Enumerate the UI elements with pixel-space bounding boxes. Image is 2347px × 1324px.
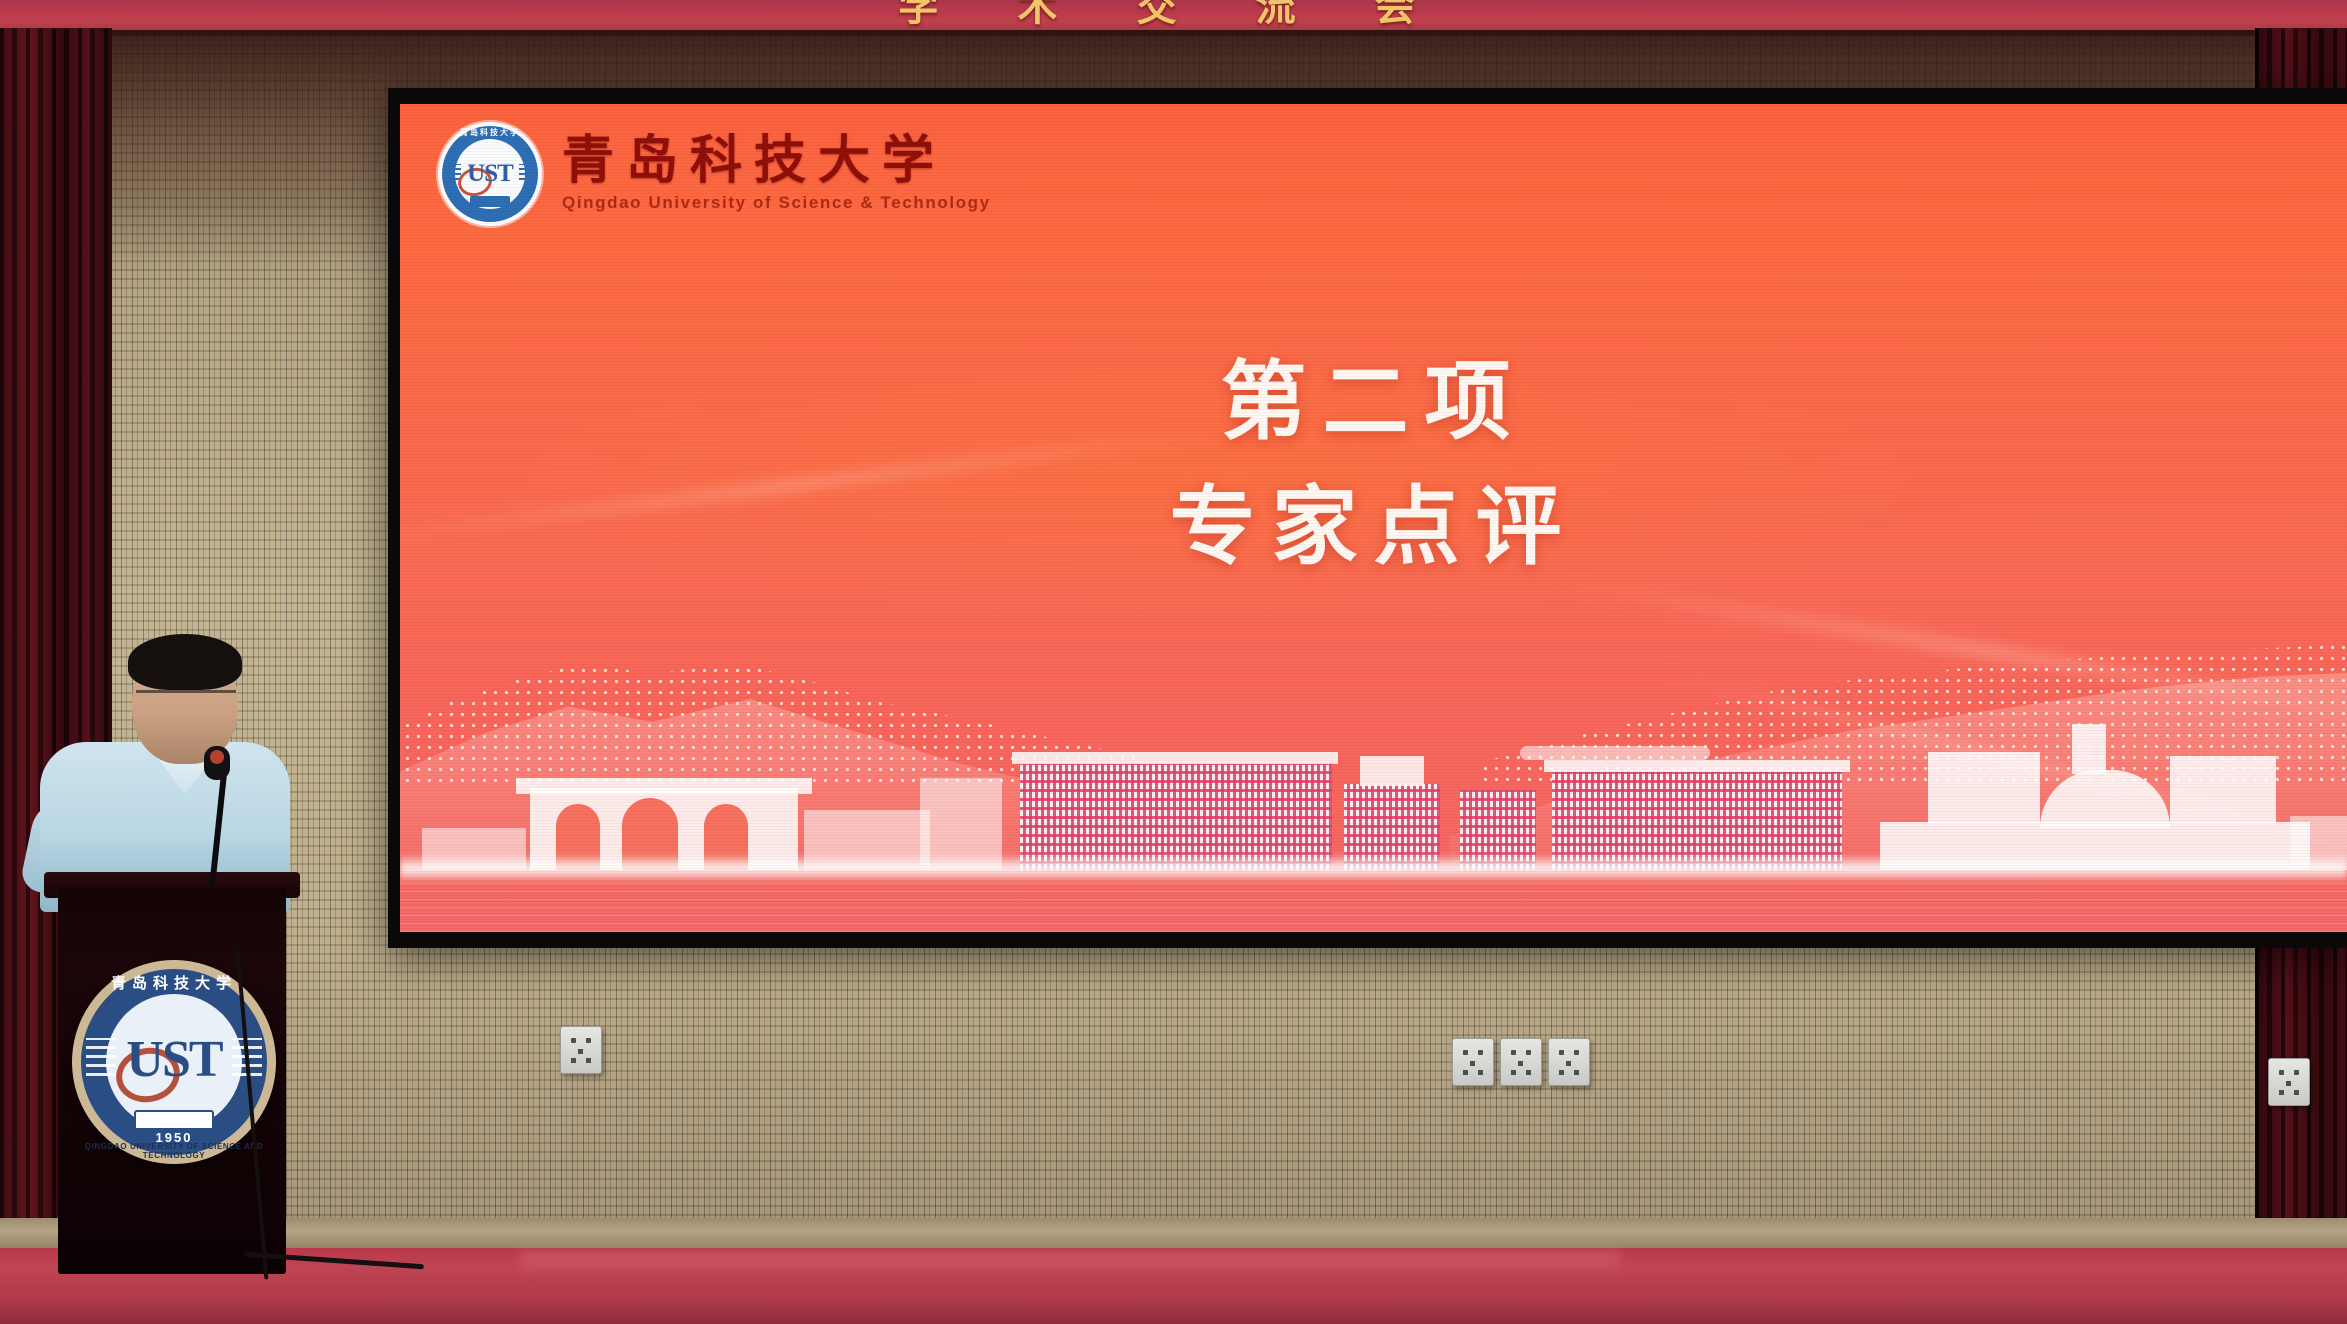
campus-skyline-graphic (400, 632, 2347, 932)
building-gate-roof (516, 778, 812, 794)
wall-socket-4[interactable] (1548, 1038, 1590, 1086)
stage-carpet-highlight (520, 1252, 1620, 1274)
building-hall-tower (2072, 724, 2106, 774)
building-window-grid-4-roof (1544, 760, 1850, 772)
building-tower-1 (1360, 756, 1424, 786)
building-hall-left-block (1928, 752, 2040, 824)
auditorium-scene: 学 术 交 流 会 青岛科技大学 UST 青岛科技大学 Qingdao Univ… (0, 0, 2347, 1324)
wall-socket-5[interactable] (2268, 1058, 2310, 1106)
seal-monogram: UST (438, 160, 542, 188)
building-window-grid-1-roof (1012, 752, 1338, 764)
podium-seal-bottom-text: QINGDAO UNIVERSITY OF SCIENCE AND TECHNO… (72, 1142, 276, 1160)
speaker-hair (128, 634, 242, 690)
microphone-tip (210, 750, 224, 764)
bottom-line-pattern (400, 870, 2347, 932)
building-hall-right-block (2170, 756, 2276, 824)
university-name-en: Qingdao University of Science & Technolo… (562, 193, 991, 213)
building-canopy (1520, 746, 1710, 760)
event-banner-text: 学 术 交 流 会 (0, 0, 2347, 30)
podium-seal-arc-text: 青岛科技大学 (72, 972, 276, 993)
university-name-cn: 青岛科技大学 (562, 135, 991, 190)
wall-socket-3[interactable] (1500, 1038, 1542, 1086)
wall-socket-2[interactable] (1452, 1038, 1494, 1086)
slide-header: 青岛科技大学 UST 青岛科技大学 Qingdao University of … (438, 122, 991, 226)
qust-seal-icon: 青岛科技大学 UST (438, 122, 542, 226)
event-banner: 学 术 交 流 会 (0, 0, 2347, 30)
seal-arc-text: 青岛科技大学 (438, 127, 542, 138)
led-screen: 青岛科技大学 UST 青岛科技大学 Qingdao University of … (400, 104, 2347, 932)
speaker-glasses (136, 690, 236, 709)
screen-haze (400, 314, 2347, 644)
wall-socket-1[interactable] (560, 1026, 602, 1074)
